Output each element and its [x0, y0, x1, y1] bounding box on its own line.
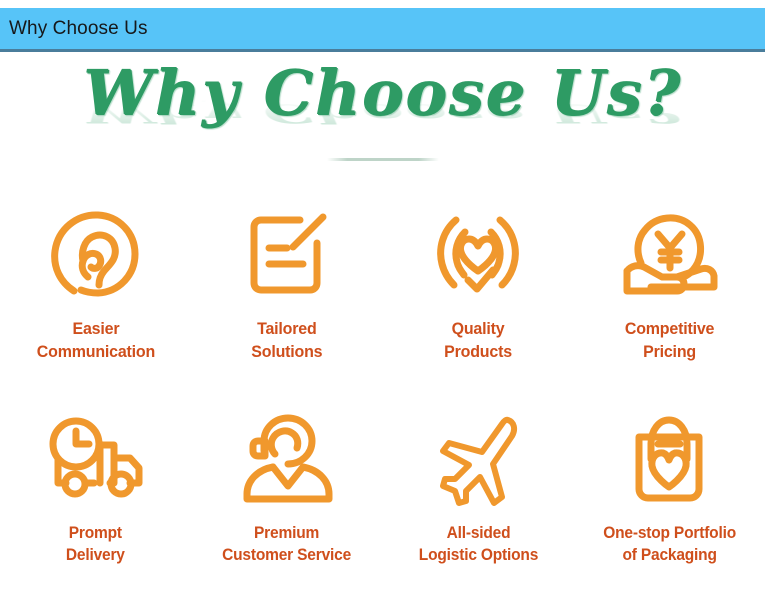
- hero-section: Why Choose Us? Why Choose Us?: [0, 55, 765, 170]
- feature-label: All-sided Logistic Options: [418, 522, 537, 566]
- heart-signal-check-icon: [430, 202, 526, 308]
- headset-agent-icon: [235, 406, 339, 512]
- feature-item-tailored-solutions[interactable]: Tailored Solutions: [191, 190, 382, 394]
- feature-item-quality-products[interactable]: Quality Products: [383, 190, 574, 394]
- feature-row: Easier Communication Tailored Solutions: [0, 190, 765, 394]
- feature-item-premium-customer-service[interactable]: Premium Customer Service: [191, 394, 382, 598]
- feature-item-one-stop-portfolio-of-packaging[interactable]: One-stop Portfolio of Packaging: [574, 394, 765, 598]
- feature-label: Premium Customer Service: [222, 522, 351, 566]
- feature-item-competitive-pricing[interactable]: Competitive Pricing: [574, 190, 765, 394]
- hand-holding-yen-coin-icon: [617, 202, 721, 308]
- feature-grid: Easier Communication Tailored Solutions: [0, 190, 765, 599]
- feature-row: Prompt Delivery Premium Customer Service: [0, 394, 765, 598]
- window-title-bar: Why Choose Us: [0, 8, 765, 52]
- feature-item-prompt-delivery[interactable]: Prompt Delivery: [0, 394, 191, 598]
- feature-label: One-stop Portfolio of Packaging: [603, 522, 736, 566]
- hero-title-wrap: Why Choose Us? Why Choose Us?: [0, 60, 765, 192]
- delivery-truck-clock-icon: [44, 406, 148, 512]
- feature-label: Tailored Solutions: [251, 318, 322, 364]
- feature-label: Quality Products: [444, 318, 512, 364]
- shopping-bag-heart-icon: [621, 406, 717, 512]
- page-title-reflection: Why Choose Us?: [0, 100, 765, 127]
- hero-divider: [327, 158, 439, 161]
- ear-in-circle-icon: [50, 202, 142, 308]
- feature-label: Easier Communication: [36, 318, 154, 364]
- feature-item-all-sided-logistic-options[interactable]: All-sided Logistic Options: [383, 394, 574, 598]
- window-title: Why Choose Us: [0, 19, 148, 38]
- feature-label: Competitive Pricing: [625, 318, 714, 364]
- airplane-icon: [430, 406, 526, 512]
- page-root: Why Choose Us Why Choose Us? Why Choose …: [0, 0, 765, 599]
- document-pencil-icon: [241, 202, 333, 308]
- feature-item-easier-communication[interactable]: Easier Communication: [0, 190, 191, 394]
- feature-label: Prompt Delivery: [66, 522, 125, 566]
